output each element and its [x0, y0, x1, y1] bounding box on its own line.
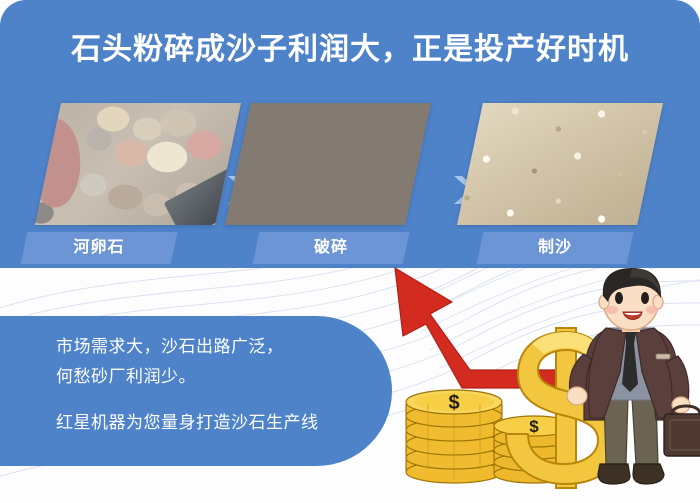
crushed-gravel-photo: [225, 103, 431, 225]
process-label-2: 破碎: [253, 232, 410, 264]
river-pebbles-photo: [35, 103, 241, 225]
copy-line-2: 何愁砂厂利润少。: [56, 362, 386, 392]
process-step-1: [48, 103, 228, 225]
page-title: 石头粉碎成沙子利润大，正是投产好时机: [0, 28, 700, 72]
process-step-2: [238, 103, 418, 225]
promo-poster: 石头粉碎成沙子利润大，正是投产好时机 河卵石 破碎 制沙: [0, 0, 700, 503]
manufactured-sand-photo: [457, 103, 663, 225]
process-step-3: [470, 103, 650, 225]
process-label-1-text: 河卵石: [24, 232, 174, 264]
copy-block: 市场需求大，沙石出路广泛， 何愁砂厂利润少。 红星机器为您量身打造沙石生产线: [56, 332, 386, 438]
copy-line-3: 红星机器为您量身打造沙石生产线: [56, 408, 386, 438]
process-label-2-text: 破碎: [256, 232, 406, 264]
copy-line-1: 市场需求大，沙石出路广泛，: [56, 332, 386, 362]
coin-dollar-glyph: $: [448, 392, 459, 414]
process-label-1: 河卵石: [21, 232, 178, 264]
process-label-3: 制沙: [477, 232, 634, 264]
businessman-character: [560, 268, 700, 498]
process-label-3-text: 制沙: [480, 232, 630, 264]
